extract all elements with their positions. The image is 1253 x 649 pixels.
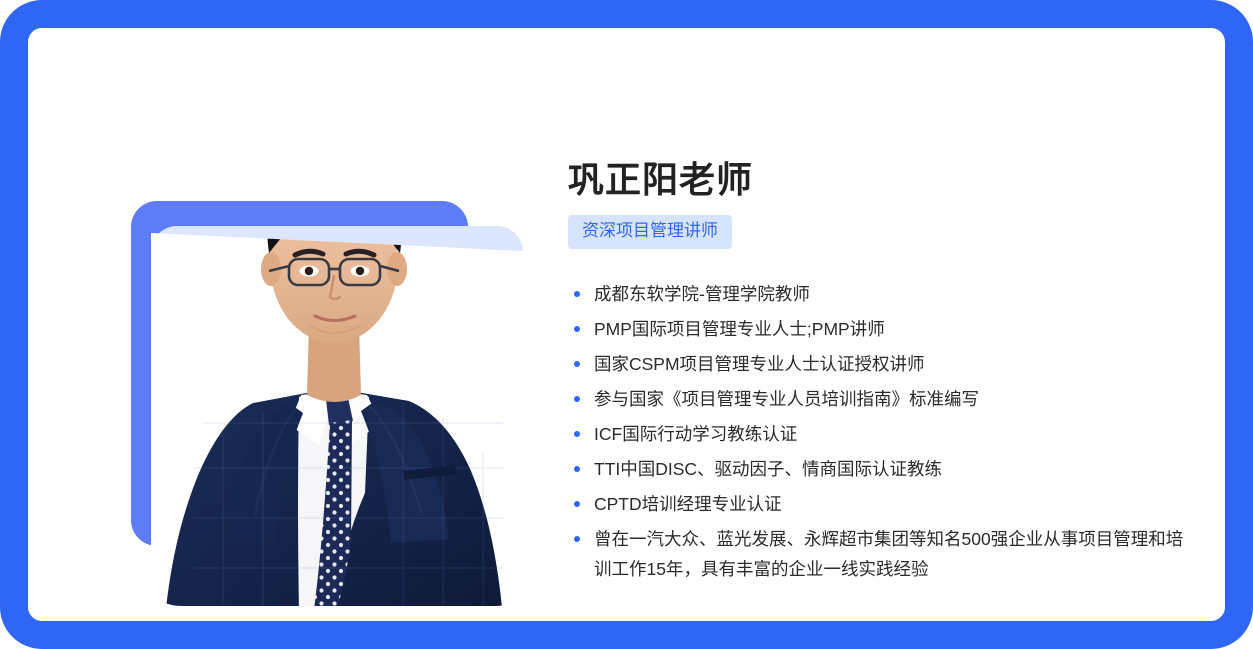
credential-text: 曾在一汽大众、蓝光发展、永辉超市集团等知名500强企业从事项目管理和培训工作15… bbox=[594, 529, 1183, 579]
credential-text: ICF国际行动学习教练认证 bbox=[594, 424, 797, 444]
credential-item: 成都东软学院-管理学院教师 bbox=[568, 279, 1188, 309]
bullet-dot-icon bbox=[574, 361, 580, 367]
credential-item: CPTD培训经理专业认证 bbox=[568, 489, 1188, 519]
bullet-dot-icon bbox=[574, 466, 580, 472]
portrait-block bbox=[103, 73, 543, 618]
credential-item: 曾在一汽大众、蓝光发展、永辉超市集团等知名500强企业从事项目管理和培训工作15… bbox=[568, 524, 1188, 584]
credential-item: TTI中国DISC、驱动因子、情商国际认证教练 bbox=[568, 454, 1188, 484]
credential-item: ICF国际行动学习教练认证 bbox=[568, 419, 1188, 449]
credential-text: 参与国家《项目管理专业人员培训指南》标准编写 bbox=[594, 389, 979, 409]
bullet-dot-icon bbox=[574, 501, 580, 507]
bullet-dot-icon bbox=[574, 431, 580, 437]
credential-item: 国家CSPM项目管理专业人士认证授权讲师 bbox=[568, 349, 1188, 379]
bullet-dot-icon bbox=[574, 536, 580, 542]
credential-item: 参与国家《项目管理专业人员培训指南》标准编写 bbox=[568, 384, 1188, 414]
credential-text: PMP国际项目管理专业人士;PMP讲师 bbox=[594, 319, 885, 339]
credential-text: 国家CSPM项目管理专业人士认证授权讲师 bbox=[594, 354, 925, 374]
credential-text: TTI中国DISC、驱动因子、情商国际认证教练 bbox=[594, 459, 942, 479]
credentials-list: 成都东软学院-管理学院教师 PMP国际项目管理专业人士;PMP讲师 国家CSPM… bbox=[568, 279, 1188, 585]
instructor-name: 巩正阳老师 bbox=[568, 158, 1188, 201]
instructor-profile-card-screen: 巩正阳老师 资深项目管理讲师 成都东软学院-管理学院教师 PMP国际项目管理专业… bbox=[0, 0, 1253, 649]
bullet-dot-icon bbox=[574, 326, 580, 332]
credential-text: 成都东软学院-管理学院教师 bbox=[594, 284, 810, 304]
bullet-dot-icon bbox=[574, 396, 580, 402]
profile-card: 巩正阳老师 资深项目管理讲师 成都东软学院-管理学院教师 PMP国际项目管理专业… bbox=[28, 28, 1225, 621]
credential-item: PMP国际项目管理专业人士;PMP讲师 bbox=[568, 314, 1188, 344]
credential-text: CPTD培训经理专业认证 bbox=[594, 494, 782, 514]
bullet-dot-icon bbox=[574, 291, 580, 297]
instructor-portrait bbox=[103, 73, 543, 618]
instructor-info-column: 巩正阳老师 资深项目管理讲师 成都东软学院-管理学院教师 PMP国际项目管理专业… bbox=[568, 158, 1188, 589]
instructor-role-badge: 资深项目管理讲师 bbox=[568, 215, 732, 248]
